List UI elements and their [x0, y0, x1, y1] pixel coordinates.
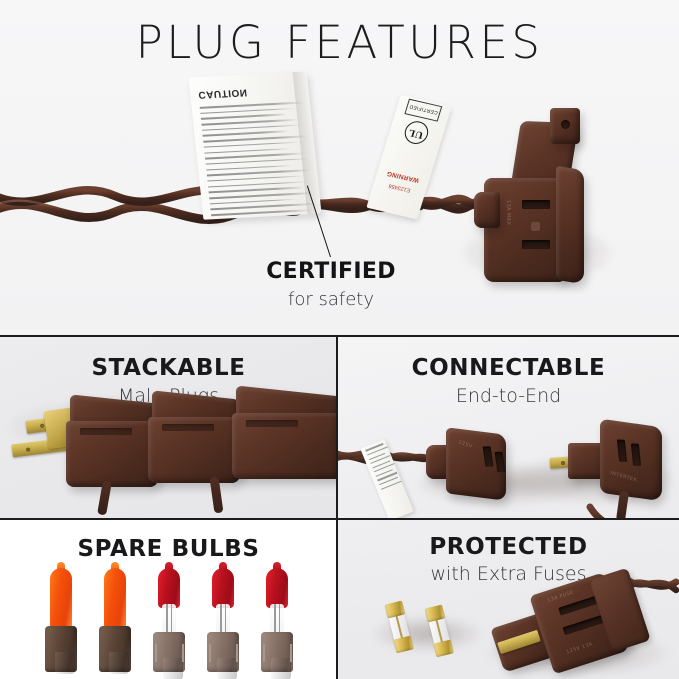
hero-plug-top-tab [550, 108, 580, 144]
stackable-plug-2-body [148, 417, 240, 483]
bulb-2-glass [104, 568, 126, 630]
connectable-male-emboss: INTERTEK [610, 470, 638, 483]
divider-vertical-row2 [336, 335, 338, 519]
hero-plug-slot-bottom [522, 240, 550, 249]
bulb-5-glass [266, 568, 288, 608]
stackable-plug-2 [148, 395, 244, 505]
connectable-male-body: INTERTEK [600, 419, 662, 502]
hero-plug-tab-hole [561, 120, 570, 129]
connectable-female-slot-2 [495, 452, 506, 472]
certified-callout-heading: CERTIFIED [236, 259, 426, 284]
fused-plug-slot-2 [563, 615, 605, 636]
hero-plug-slot-top [522, 200, 550, 209]
stackable-panel: STACKABLE Male Plugs [0, 337, 337, 519]
stackable-plug-2-slot [162, 424, 214, 431]
stackable-heading: STACKABLE [0, 355, 337, 381]
stackable-plug-3 [232, 391, 337, 501]
stackable-plug-3-body [232, 413, 337, 479]
bulb-5-filament [270, 604, 284, 634]
bulb-4-filament [216, 604, 230, 634]
ul-logo-icon: UL [402, 119, 431, 146]
connectable-panel: CONNECTABLE End-to-End [338, 337, 679, 519]
spare-bulbs-heading: SPARE BULBS [0, 536, 337, 562]
fused-plug-emboss-rating: 13A FUSE [547, 590, 575, 604]
connectable-male-slot-1 [617, 439, 627, 461]
connectable-male-slot-2 [631, 443, 641, 465]
connectable-male-plug: INTERTEK [552, 421, 662, 517]
connectable-female-plug: 125V [426, 431, 506, 503]
bulb-1-base [45, 626, 77, 672]
hero-female-plug: 125V 13A MAX INTERTEK [476, 116, 606, 316]
certified-callout-subheading: for safety [236, 289, 426, 310]
connectable-female-body: 125V [446, 427, 506, 500]
hero-plug-cord-collar [474, 192, 500, 228]
bulb-4-base [207, 632, 239, 672]
hero-plug-side-wall [556, 166, 584, 284]
connectable-female-slot-1 [483, 446, 494, 466]
bulb-4-red [203, 568, 243, 673]
divider-horizontal-top [0, 335, 679, 337]
fused-plug: 13A FUSE 125V 13A [496, 564, 656, 674]
spare-bulbs-panel: SPARE BULBS [0, 520, 337, 679]
bulb-1-orange [41, 568, 81, 673]
hero-plug-center-emboss [531, 222, 540, 231]
stackable-plug-3-slot [246, 420, 298, 427]
bulb-3-glass [158, 568, 180, 608]
divider-horizontal-bottom [0, 518, 679, 520]
hero-plug-emboss-amps: 13A MAX [505, 200, 511, 225]
bulb-4-glass [212, 568, 234, 608]
divider-vertical-row3 [336, 518, 338, 679]
infographic-page: PLUG FEATURES [0, 0, 679, 679]
hero-panel: PLUG FEATURES [0, 0, 679, 336]
caution-tag-word: CAUTION [198, 86, 248, 100]
caution-tag: CAUTION [189, 71, 322, 219]
protected-panel: PROTECTED with Extra Fuses [338, 520, 679, 679]
stackable-plug-1-body [66, 421, 158, 487]
connectable-female-emboss: 125V [458, 439, 474, 449]
bulb-3-filament [162, 604, 176, 634]
bulb-5-red [257, 568, 297, 673]
bulb-2-base [99, 626, 131, 672]
bulb-5-base [261, 632, 293, 672]
bulb-3-base [153, 632, 185, 672]
bulb-2-orange [95, 568, 135, 673]
bulb-1-glass [50, 568, 72, 630]
stackable-plug-1-slot [80, 428, 132, 435]
fused-plug-emboss-volt: 125V 13A [566, 641, 594, 655]
bulb-3-red [149, 568, 189, 673]
